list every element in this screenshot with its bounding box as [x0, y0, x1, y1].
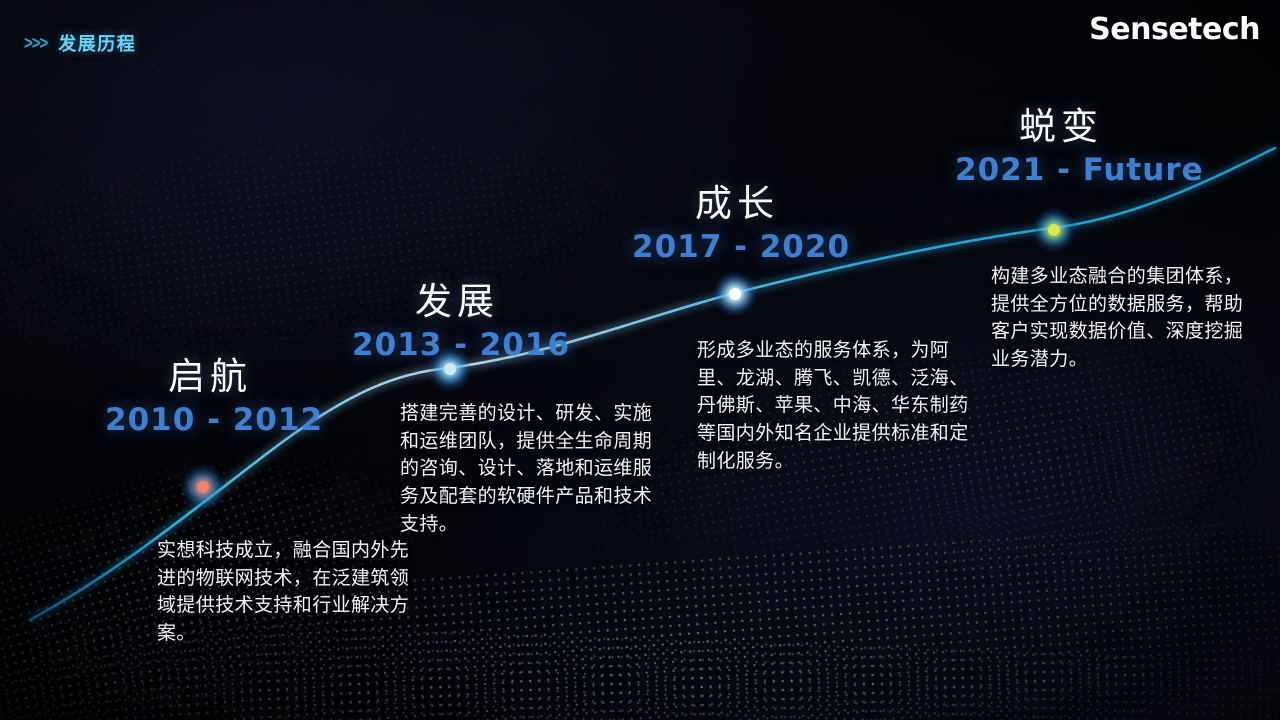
milestone-node-core-1: [197, 481, 209, 493]
milestone-heading-4: 蜕变 2021 - Future: [955, 105, 1167, 189]
milestone-node-core-4: [1048, 224, 1060, 236]
slide-canvas: >>> 发展历程 Sensetech: [0, 0, 1280, 720]
milestone-node-3[interactable]: [713, 272, 757, 316]
milestone-years-2: 2013 - 2016: [352, 326, 562, 365]
milestone-heading-1: 启航 2010 - 2012: [105, 355, 315, 439]
brand-logo: Sensetech: [1089, 12, 1260, 47]
milestone-years-1: 2010 - 2012: [105, 401, 315, 440]
milestone-title-1: 启航: [105, 355, 315, 399]
milestone-node-1[interactable]: [181, 465, 225, 509]
milestone-years-3: 2017 - 2020: [632, 228, 842, 267]
milestone-heading-2: 发展 2013 - 2016: [352, 280, 562, 364]
triple-chevron-right-icon: >>>: [24, 36, 47, 51]
milestone-title-4: 蜕变: [955, 105, 1167, 149]
milestone-description-2: 搭建完善的设计、研发、实施和运维团队，提供全生命周期的咨询、设计、落地和运维服务…: [400, 400, 654, 539]
milestone-title-3: 成长: [632, 182, 842, 226]
milestone-description-3: 形成多业态的服务体系，为阿里、龙湖、腾飞、凯德、泛海、丹佛斯、苹果、中海、华东制…: [697, 337, 969, 476]
section-title-group: >>> 发展历程: [24, 30, 136, 56]
milestone-years-4: 2021 - Future: [955, 151, 1167, 190]
slide-header: >>> 发展历程 Sensetech: [0, 0, 1280, 62]
milestone-description-4: 构建多业态融合的集团体系，提供全方位的数据服务，帮助客户实现数据价值、深度挖掘业…: [991, 263, 1253, 374]
milestone-title-2: 发展: [352, 280, 562, 324]
milestone-node-core-2: [444, 363, 456, 375]
milestone-node-4[interactable]: [1032, 208, 1076, 252]
milestone-node-core-3: [729, 288, 741, 300]
milestone-heading-3: 成长 2017 - 2020: [632, 182, 842, 266]
milestone-description-1: 实想科技成立，融合国内外先进的物联网技术，在泛建筑领域提供技术支持和行业解决方案…: [157, 537, 419, 648]
chevron-glyphs: >>>: [24, 34, 47, 53]
page-title: 发展历程: [58, 30, 136, 56]
